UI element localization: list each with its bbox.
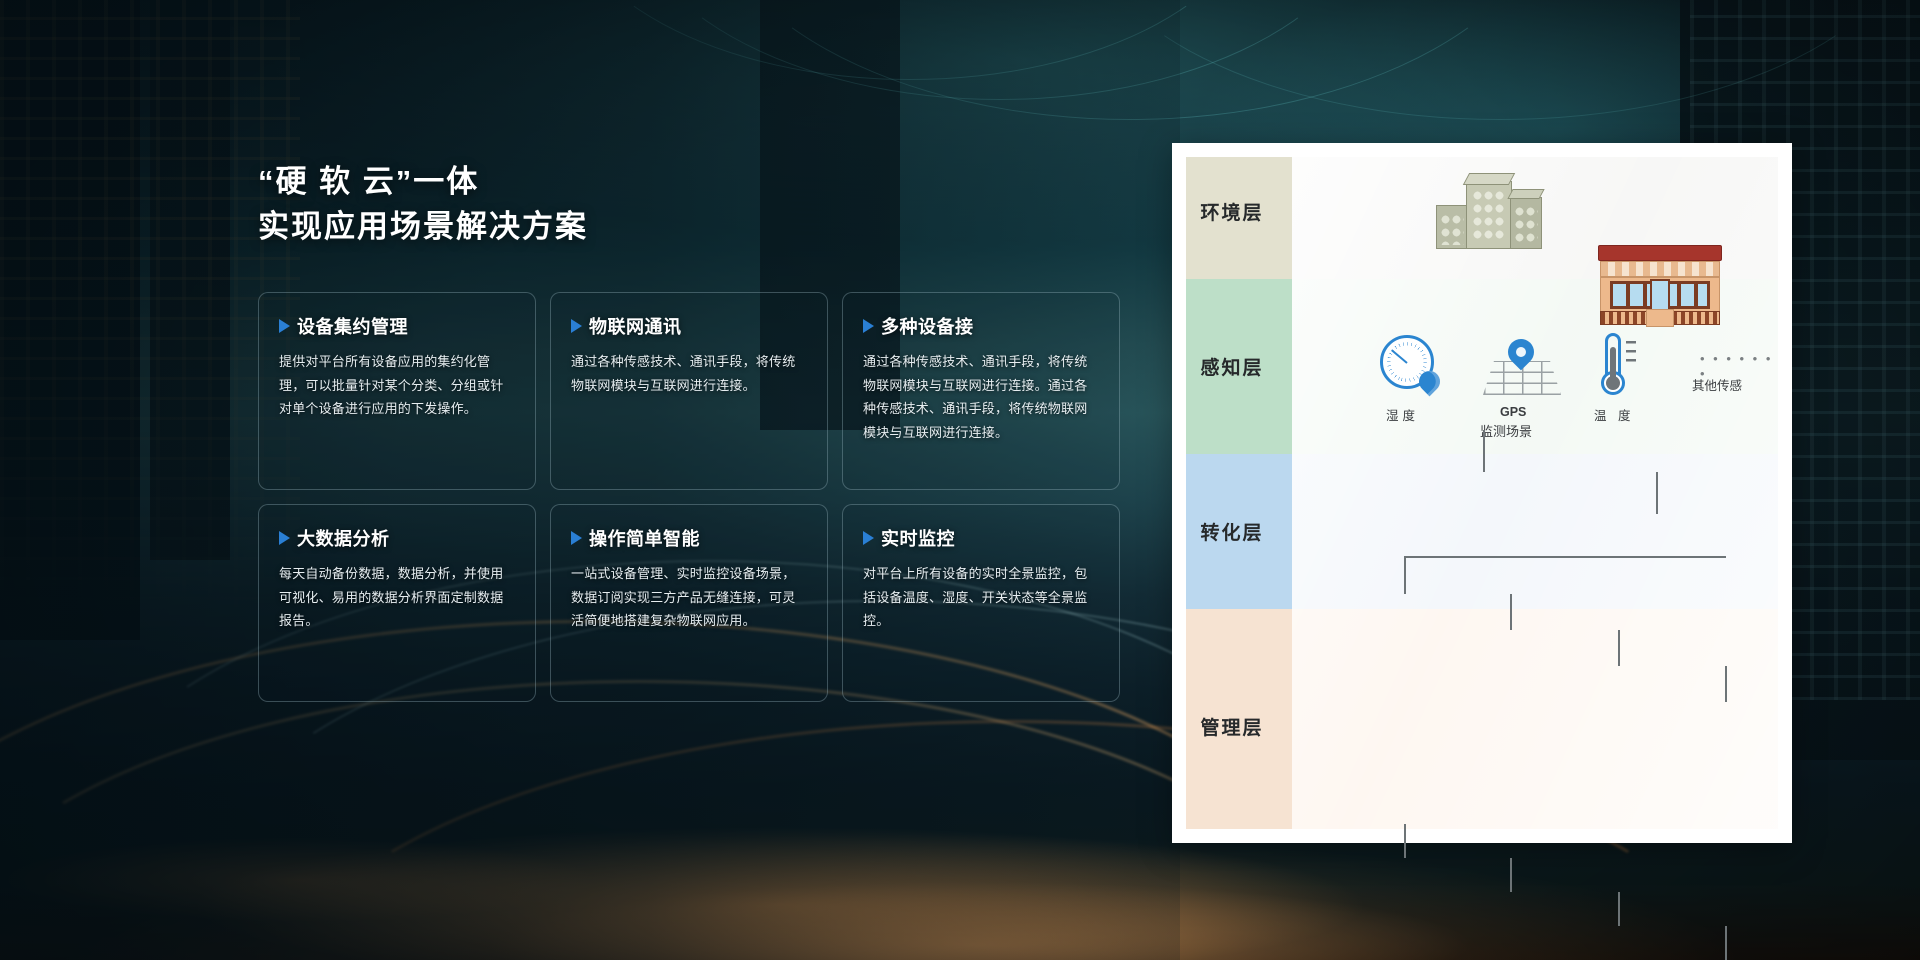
- scene-label: 监测场景: [1480, 421, 1920, 440]
- triangle-bullet-icon: [863, 531, 874, 545]
- connector-drop-other: [1725, 666, 1727, 702]
- card-header: 多种设备接: [863, 313, 1099, 339]
- connector-office-down: [1483, 430, 1485, 472]
- connector-up-humidity: [1404, 824, 1406, 858]
- connector-drop-humidity: [1404, 558, 1406, 594]
- thermometer-icon: [1600, 333, 1626, 395]
- card-header: 大数据分析: [279, 525, 515, 551]
- feature-card-multi-device-access[interactable]: 多种设备接 通过各种传感技术、通讯手段，将传统物联网模块与互联网进行连接。通过各…: [842, 292, 1120, 490]
- storefront-icon: [1598, 245, 1722, 327]
- card-title: 大数据分析: [297, 525, 390, 551]
- connector-shop-down: [1656, 472, 1658, 514]
- thermometer-ticks: [1626, 341, 1636, 365]
- card-body: 每天自动备份数据，数据分析，并使用可视化、易用的数据分析界面定制数据报告。: [279, 562, 515, 633]
- title-line-2: 实现应用场景解决方案: [258, 205, 1138, 250]
- connector-drop-gps: [1510, 594, 1512, 630]
- card-body: 对平台上所有设备的实时全景监控，包括设备温度、湿度、开关状态等全景监控。: [863, 562, 1099, 633]
- sensor-label-humidity: 湿度: [1386, 405, 1419, 424]
- card-header: 设备集约管理: [279, 313, 515, 339]
- card-body: 一站式设备管理、实时监控设备场景，数据订阅实现三方产品无缝连接，可灵活简便地搭建…: [571, 562, 807, 633]
- sensor-label-other: 其他传感: [1692, 375, 1742, 394]
- layer-management: 管理层: [1172, 609, 1292, 843]
- architecture-diagram-panel: 环境层 感知层 转化层 管理层: [1172, 143, 1792, 843]
- card-title: 物联网通讯: [589, 313, 682, 339]
- card-header: 操作简单智能: [571, 525, 807, 551]
- sensor-label-temperature: 温 度: [1594, 405, 1634, 424]
- card-header: 实时监控: [863, 525, 1099, 551]
- triangle-bullet-icon: [279, 319, 290, 333]
- card-header: 物联网通讯: [571, 313, 807, 339]
- card-title: 设备集约管理: [297, 313, 408, 339]
- connector-up-temp: [1618, 892, 1620, 926]
- triangle-bullet-icon: [571, 531, 582, 545]
- humidity-gauge-icon: [1380, 335, 1434, 389]
- triangle-bullet-icon: [279, 531, 290, 545]
- connector-bus-top: [1404, 556, 1726, 558]
- feature-card-simple-smart-operation[interactable]: 操作简单智能 一站式设备管理、实时监控设备场景，数据订阅实现三方产品无缝连接，可…: [550, 504, 828, 702]
- connector-up-other: [1725, 926, 1727, 960]
- layer-conversion: 转化层: [1172, 454, 1292, 609]
- feature-card-device-management[interactable]: 设备集约管理 提供对平台所有设备应用的集约化管理，可以批量针对某个分类、分组或针…: [258, 292, 536, 490]
- feature-card-realtime-monitoring[interactable]: 实时监控 对平台上所有设备的实时全景监控，包括设备温度、湿度、开关状态等全景监控…: [842, 504, 1120, 702]
- sensor-label-gps: GPS: [1500, 405, 1526, 419]
- card-body: 提供对平台所有设备应用的集约化管理，可以批量针对某个分类、分组或针对单个设备进行…: [279, 350, 515, 421]
- office-building-icon: [1436, 171, 1544, 249]
- card-title: 操作简单智能: [589, 525, 700, 551]
- card-body: 通过各种传感技术、通讯手段，将传统物联网模块与互联网进行连接。通过各种传感技术、…: [863, 350, 1099, 445]
- diagram-canvas: 监测场景 湿度 GPS: [1292, 143, 1792, 843]
- title-line-1: “硬 软 云”一体: [258, 160, 1138, 205]
- connector-up-gps: [1510, 858, 1512, 892]
- page-title: “硬 软 云”一体 实现应用场景解决方案: [258, 160, 1138, 250]
- thermometer-bulb-fill: [1606, 376, 1620, 390]
- triangle-bullet-icon: [863, 319, 874, 333]
- triangle-bullet-icon: [571, 319, 582, 333]
- connector-drop-temp: [1618, 630, 1620, 666]
- card-body: 通过各种传感技术、通讯手段，将传统物联网模块与互联网进行连接。: [571, 350, 807, 397]
- layer-legend-column: 环境层 感知层 转化层 管理层: [1172, 143, 1292, 843]
- card-title: 实时监控: [881, 525, 955, 551]
- card-title: 多种设备接: [881, 313, 974, 339]
- layer-perception: 感知层: [1172, 279, 1292, 454]
- hero-content: “硬 软 云”一体 实现应用场景解决方案 设备集约管理 提供对平台所有设备应用的…: [258, 160, 1138, 702]
- feature-card-grid: 设备集约管理 提供对平台所有设备应用的集约化管理，可以批量针对某个分类、分组或针…: [258, 292, 1138, 702]
- feature-card-iot-communication[interactable]: 物联网通讯 通过各种传感技术、通讯手段，将传统物联网模块与互联网进行连接。: [550, 292, 828, 490]
- feature-card-big-data-analysis[interactable]: 大数据分析 每天自动备份数据，数据分析，并使用可视化、易用的数据分析界面定制数据…: [258, 504, 536, 702]
- layer-environment: 环境层: [1172, 143, 1292, 279]
